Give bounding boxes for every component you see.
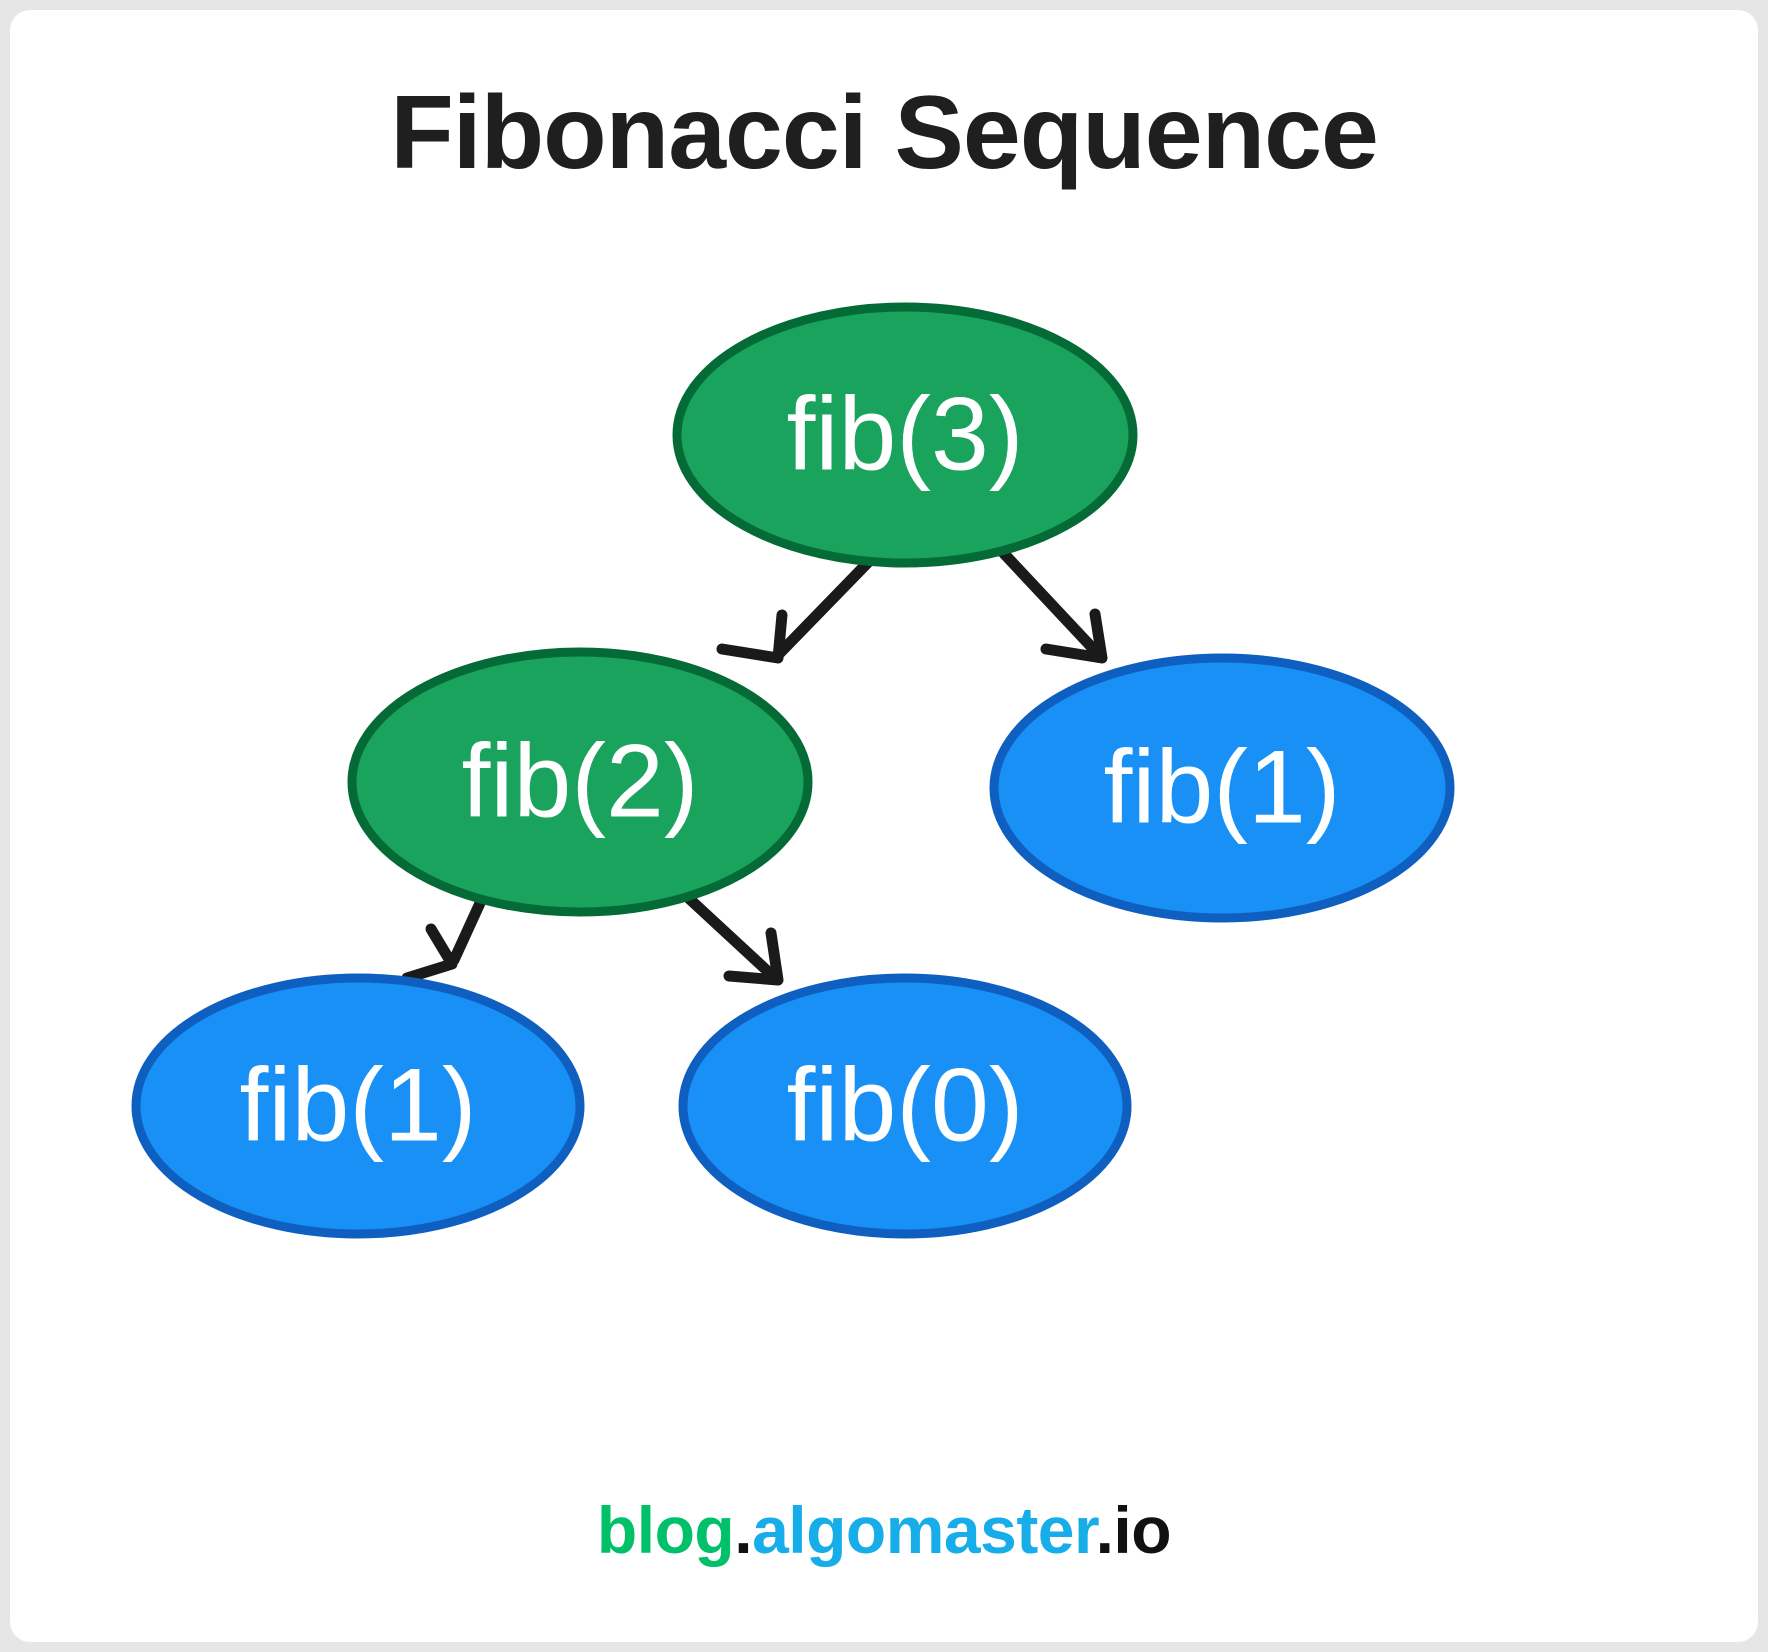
edge-fib2-to-fib0: [682, 892, 778, 980]
brand-footer[interactable]: blog.algomaster.io: [10, 1492, 1758, 1568]
node-fib3[interactable]: fib(3): [677, 307, 1133, 563]
brand-dot-separator: .: [734, 1493, 752, 1567]
node-label-fib0: fib(0): [787, 1047, 1024, 1163]
node-label-fib3: fib(3): [787, 376, 1024, 492]
node-label-fib2: fib(2): [462, 723, 699, 839]
node-fib2[interactable]: fib(2): [352, 652, 808, 912]
node-label-fib1-left: fib(1): [240, 1047, 477, 1163]
brand-tld-text: .io: [1096, 1493, 1172, 1567]
node-fib1-left[interactable]: fib(1): [136, 978, 580, 1234]
brand-blog-text: blog: [597, 1493, 734, 1567]
node-fib0[interactable]: fib(0): [683, 978, 1127, 1234]
edge-fib2-to-fib1-left: [407, 890, 486, 978]
diagram-card: Fibonacci Sequence: [10, 10, 1758, 1642]
recursion-tree-diagram: fib(3) fib(2) fib(1) fib(1) fib(0): [10, 10, 1758, 1642]
node-fib1-right[interactable]: fib(1): [994, 658, 1450, 918]
brand-algomaster-text: algomaster: [752, 1493, 1096, 1567]
node-label-fib1-right: fib(1): [1104, 729, 1341, 845]
edge-fib3-to-fib1-right: [995, 544, 1102, 658]
